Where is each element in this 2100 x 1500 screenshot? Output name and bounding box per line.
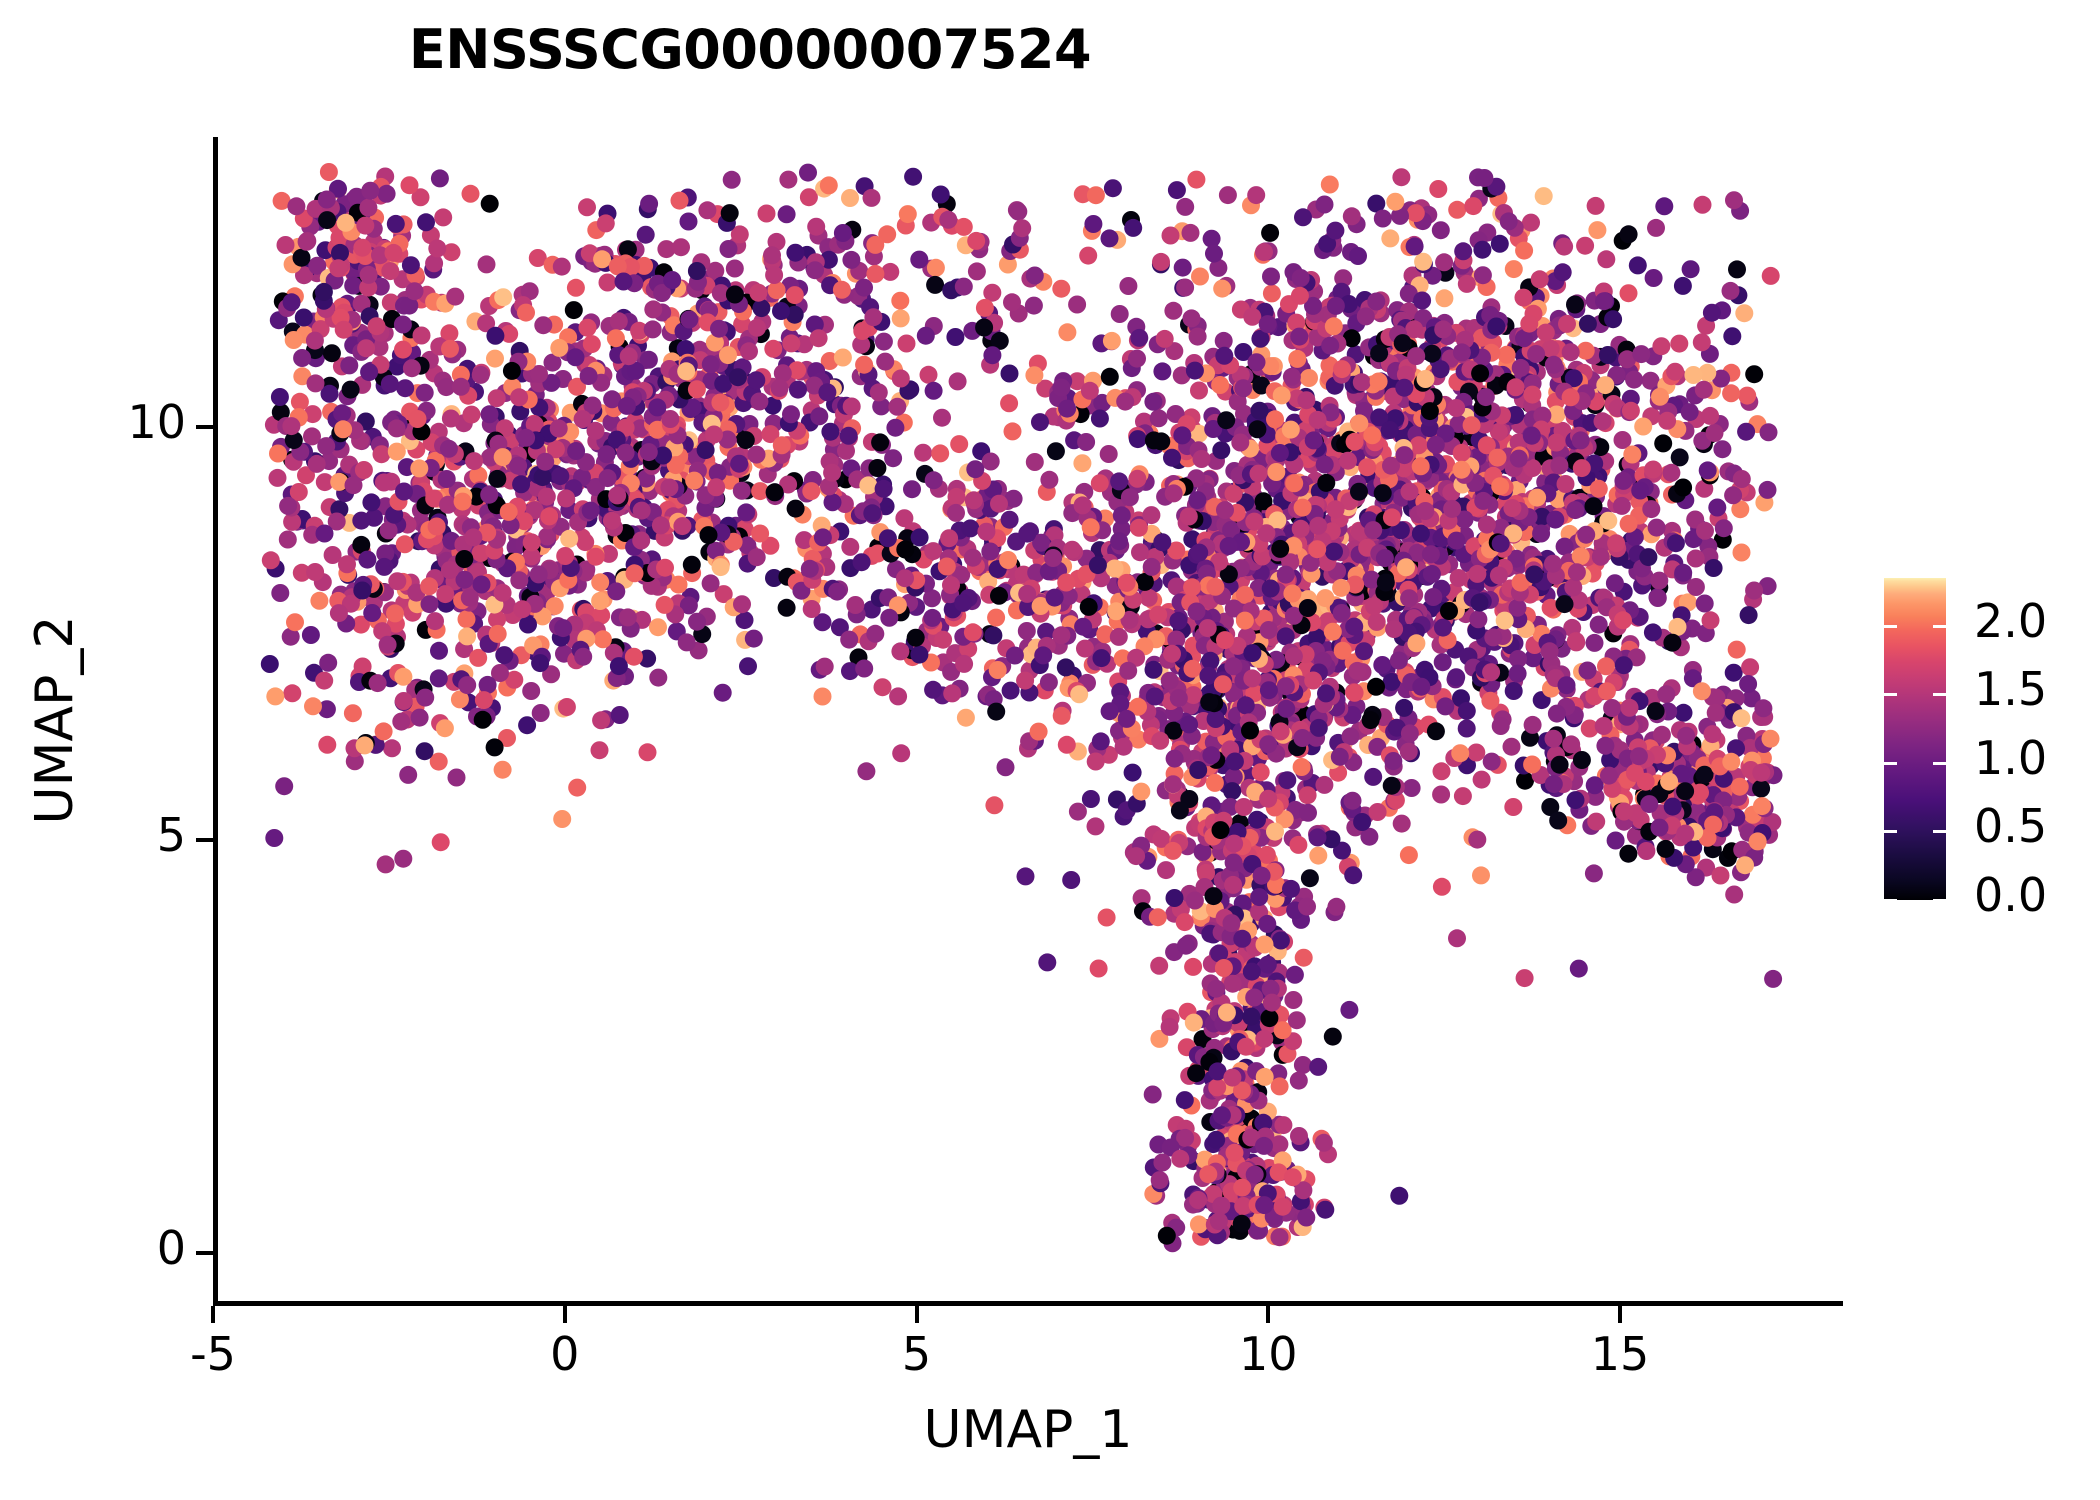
colorbar-tick-label: 2.0 bbox=[1974, 594, 2047, 648]
x-tick-label: 5 bbox=[837, 1327, 997, 1381]
umap-feature-plot: ENSSSCG00000007524 -50510150510 UMAP_1 U… bbox=[0, 0, 2100, 1500]
x-tick-mark bbox=[211, 1306, 215, 1323]
colorbar-tick-mark bbox=[1933, 693, 1946, 696]
y-tick-label: 0 bbox=[36, 1221, 186, 1275]
colorbar-tick-mark bbox=[1884, 830, 1897, 833]
colorbar-tick-label: 1.0 bbox=[1974, 731, 2047, 785]
colorbar-tick-mark bbox=[1933, 830, 1946, 833]
colorbar-tick-label: 0.0 bbox=[1974, 868, 2047, 922]
y-tick-mark bbox=[196, 425, 213, 429]
y-axis-label: UMAP_2 bbox=[25, 370, 85, 1070]
x-tick-label: -5 bbox=[133, 1327, 293, 1381]
y-tick-mark bbox=[196, 838, 213, 842]
colorbar-tick-mark bbox=[1933, 899, 1946, 902]
x-tick-mark bbox=[1618, 1306, 1622, 1323]
x-tick-label: 10 bbox=[1188, 1327, 1348, 1381]
colorbar-tick-mark bbox=[1884, 693, 1897, 696]
colorbar-tick-label: 0.5 bbox=[1974, 799, 2047, 853]
scatter-points-svg bbox=[218, 137, 1843, 1301]
x-tick-mark bbox=[1266, 1306, 1270, 1323]
x-tick-label: 0 bbox=[485, 1327, 645, 1381]
colorbar-tick-mark bbox=[1884, 762, 1897, 765]
colorbar: 0.00.51.01.52.0 bbox=[1884, 578, 2084, 900]
colorbar-tick-label: 1.5 bbox=[1974, 662, 2047, 716]
y-tick-mark bbox=[196, 1251, 213, 1255]
x-axis-label: UMAP_1 bbox=[213, 1400, 1843, 1460]
x-tick-mark bbox=[563, 1306, 567, 1323]
x-tick-mark bbox=[915, 1306, 919, 1323]
colorbar-tick-mark bbox=[1933, 625, 1946, 628]
x-axis-spine bbox=[213, 1301, 1843, 1306]
x-tick-label: 15 bbox=[1540, 1327, 1700, 1381]
colorbar-tick-mark bbox=[1933, 762, 1946, 765]
colorbar-tick-mark bbox=[1884, 899, 1897, 902]
scatter-plot-area bbox=[218, 137, 1843, 1301]
page-title: ENSSSCG00000007524 bbox=[0, 18, 1500, 81]
colorbar-tick-mark bbox=[1884, 625, 1897, 628]
